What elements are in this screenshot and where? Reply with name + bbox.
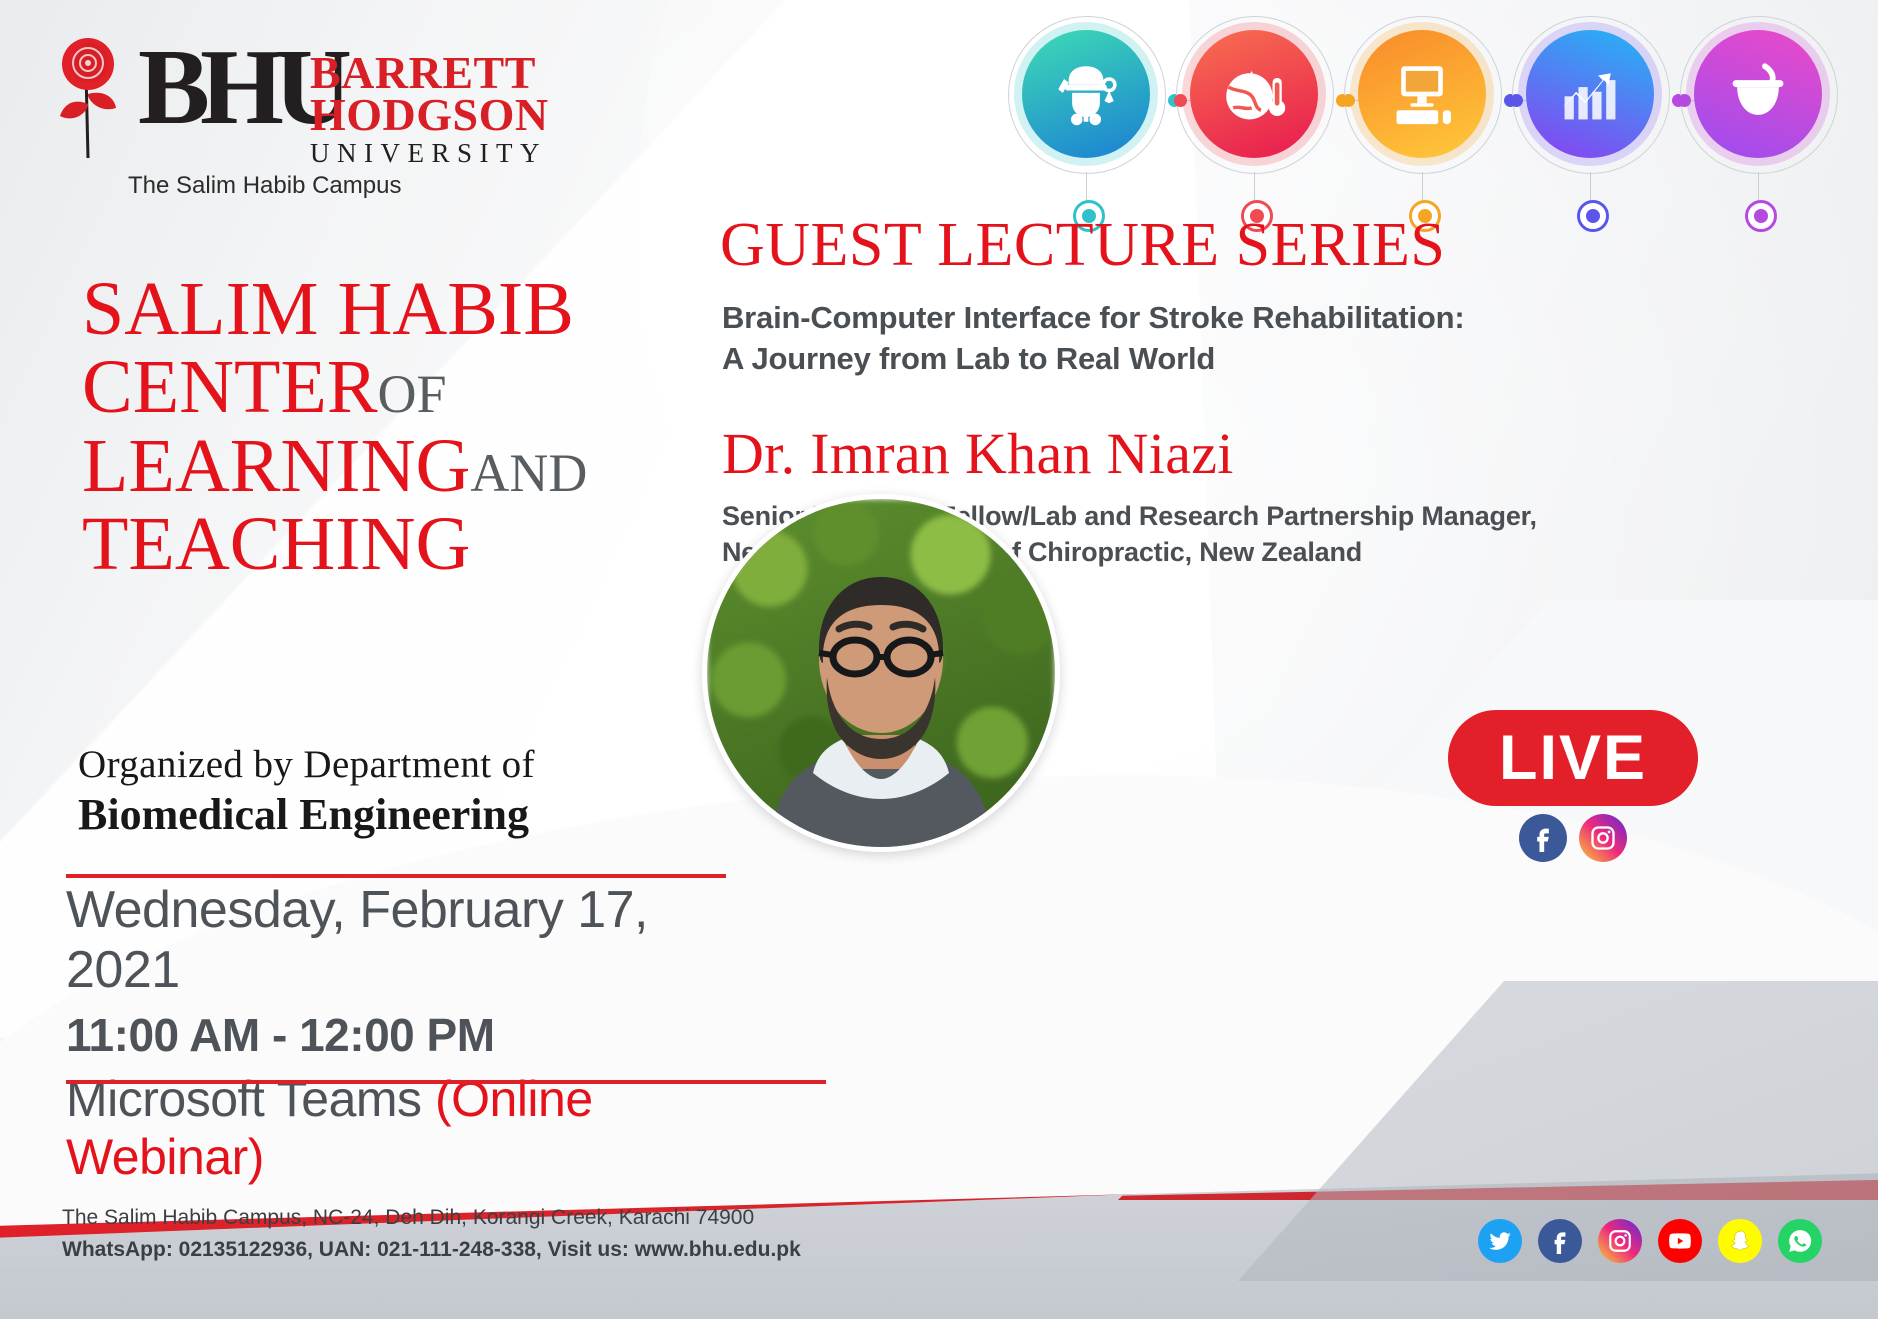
twitter-icon[interactable] <box>1478 1219 1522 1263</box>
brand-line-2: HODGSON <box>310 94 549 136</box>
whatsapp-icon[interactable] <box>1778 1219 1822 1263</box>
snapchat-icon[interactable] <box>1718 1219 1762 1263</box>
youtube-icon[interactable] <box>1658 1219 1702 1263</box>
portrait-figure <box>707 499 1055 847</box>
mortar-pestle-icon <box>1694 30 1822 158</box>
speaker-portrait <box>702 494 1060 852</box>
event-details: Wednesday, February 17, 2021 11:00 AM - … <box>66 880 726 1186</box>
connector-dot <box>1174 94 1187 107</box>
headline-line-2: CENTEROF <box>82 348 742 426</box>
facebook-icon[interactable] <box>1538 1219 1582 1263</box>
live-channels <box>1448 814 1698 862</box>
university-name: BARRETT HODGSON UNIVERSITY <box>310 52 549 165</box>
live-badge-group[interactable]: LIVE <box>1448 710 1698 862</box>
bar-chart-arrow-icon <box>1526 30 1654 158</box>
icon-node-environment <box>1190 30 1318 158</box>
headline-line-4: TEACHING <box>82 505 742 583</box>
icon-node-computing <box>1358 30 1486 158</box>
contact-line: WhatsApp: 02135122936, UAN: 021-111-248-… <box>62 1234 801 1267</box>
topic-line-1: Brain-Computer Interface for Stroke Reha… <box>722 298 1542 339</box>
organizer-block: Organized by Department of Biomedical En… <box>78 742 778 840</box>
divider-top <box>66 874 726 878</box>
organizer-line-1: Organized by Department of <box>78 742 778 787</box>
engineer-helmet-icon <box>1022 30 1150 158</box>
instagram-icon[interactable] <box>1598 1219 1642 1263</box>
globe-thermometer-icon <box>1190 30 1318 158</box>
footer-address: The Salim Habib Campus, NC-24, Deh Dih, … <box>62 1202 801 1267</box>
discipline-icon-strip <box>1022 30 1832 210</box>
address-line: The Salim Habib Campus, NC-24, Deh Dih, … <box>62 1202 801 1235</box>
series-title: GUEST LECTURE SERIES <box>720 214 1445 276</box>
connector-dot <box>1678 94 1691 107</box>
headline-line-3: LEARNINGAND <box>82 427 742 505</box>
event-flyer: BHU BARRETT HODGSON UNIVERSITY The Salim… <box>0 0 1878 1319</box>
icon-node-engineer <box>1022 30 1150 158</box>
live-badge[interactable]: LIVE <box>1448 710 1698 806</box>
headline-of: OF <box>378 364 447 424</box>
rose-icon <box>52 32 132 160</box>
page-title: SALIM HABIB CENTEROF LEARNINGAND TEACHIN… <box>82 270 742 583</box>
connector-dot <box>1342 94 1355 107</box>
instagram-icon[interactable] <box>1579 814 1627 862</box>
event-date: Wednesday, February 17, 2021 <box>66 880 726 1000</box>
event-platform: Microsoft Teams (Online Webinar) <box>66 1070 726 1186</box>
node-indicator <box>1577 200 1609 232</box>
headline-line-1: SALIM HABIB <box>82 270 742 348</box>
node-indicator <box>1745 200 1777 232</box>
facebook-icon[interactable] <box>1519 814 1567 862</box>
topic-line-2: A Journey from Lab to Real World <box>722 339 1542 380</box>
campus-label: The Salim Habib Campus <box>128 172 401 200</box>
university-logo: BHU BARRETT HODGSON UNIVERSITY <box>52 28 522 178</box>
icon-node-pharmacy <box>1694 30 1822 158</box>
organizer-line-2: Biomedical Engineering <box>78 789 778 840</box>
footer-social-row <box>1478 1219 1822 1263</box>
headline-learning: LEARNING <box>82 424 470 508</box>
headline-and: AND <box>470 443 587 503</box>
speaker-name: Dr. Imran Khan Niazi <box>722 425 1234 483</box>
connector-dot <box>1510 94 1523 107</box>
computer-desktop-icon <box>1358 30 1486 158</box>
headline-center: CENTER <box>82 345 378 429</box>
brand-line-1: BARRETT <box>310 52 549 94</box>
lecture-topic: Brain-Computer Interface for Stroke Reha… <box>722 298 1542 380</box>
live-label: LIVE <box>1499 722 1647 794</box>
brand-line-3: UNIVERSITY <box>310 141 549 166</box>
event-time: 11:00 AM - 12:00 PM <box>66 1008 726 1062</box>
divider-bottom <box>66 1080 826 1084</box>
icon-node-analytics <box>1526 30 1654 158</box>
